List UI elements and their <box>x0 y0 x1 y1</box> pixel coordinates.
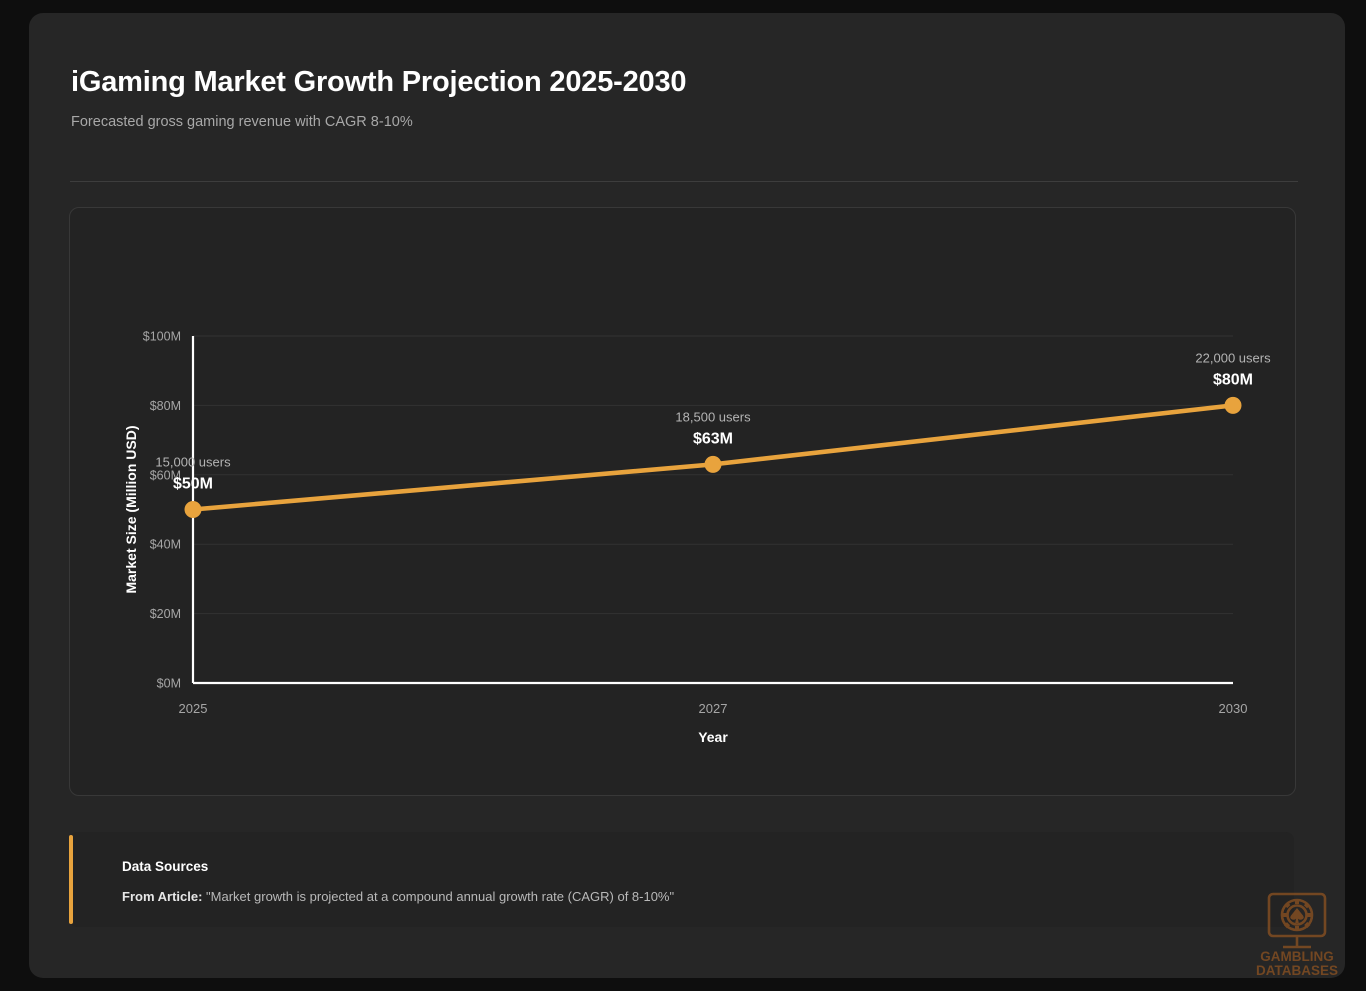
header-divider <box>70 181 1298 182</box>
data-point-users-label: 15,000 users <box>155 455 231 470</box>
monitor-stand <box>1283 936 1311 947</box>
data-sources-citation: From Article: "Market growth is projecte… <box>122 889 674 904</box>
y-axis-title: Market Size (Million USD) <box>123 425 139 593</box>
y-tick-label: $100M <box>143 330 181 344</box>
page-subtitle: Forecasted gross gaming revenue with CAG… <box>71 114 1297 130</box>
chart-card: $0M$20M$40M$60M$80M$100M 202520272030 15… <box>69 207 1296 796</box>
x-axis-title: Year <box>698 729 728 745</box>
data-sources-heading: Data Sources <box>122 859 208 874</box>
watermark-line2: DATABASES <box>1256 963 1338 978</box>
x-tick-label: 2027 <box>699 701 728 716</box>
data-point-users-label: 22,000 users <box>1195 350 1271 365</box>
y-tick-label: $80M <box>150 399 181 413</box>
page-root: iGaming Market Growth Projection 2025-20… <box>0 0 1366 991</box>
line-chart-svg: $0M$20M$40M$60M$80M$100M 202520272030 15… <box>70 208 1297 797</box>
data-point-value-label: $50M <box>173 476 213 493</box>
data-sources-citation-quote: "Market growth is projected at a compoun… <box>206 889 674 904</box>
data-point-value-label: $63M <box>693 430 733 447</box>
y-tick-label: $20M <box>150 607 181 621</box>
y-tick-label: $40M <box>150 538 181 552</box>
data-point-marker[interactable] <box>705 456 722 473</box>
chart-header: iGaming Market Growth Projection 2025-20… <box>71 66 1297 130</box>
y-tick-label: $0M <box>157 677 181 691</box>
x-tick-label: 2025 <box>179 701 208 716</box>
gridlines <box>193 336 1233 683</box>
data-sources-accent-bar <box>69 835 73 924</box>
x-tick-label: 2030 <box>1219 701 1248 716</box>
watermark-line1: GAMBLING <box>1260 949 1334 964</box>
data-point-marker[interactable] <box>185 501 202 518</box>
page-title: iGaming Market Growth Projection 2025-20… <box>71 66 1297 99</box>
data-point-marker[interactable] <box>1225 397 1242 414</box>
plot-area: $0M$20M$40M$60M$80M$100M 202520272030 15… <box>70 208 1297 797</box>
data-point-users-label: 18,500 users <box>675 409 751 424</box>
data-point-value-label: $80M <box>1213 371 1253 388</box>
data-sources-card <box>69 832 1294 927</box>
main-card: iGaming Market Growth Projection 2025-20… <box>29 13 1345 978</box>
x-axis-ticks: 202520272030 <box>179 701 1248 716</box>
y-axis-ticks: $0M$20M$40M$60M$80M$100M <box>143 330 181 691</box>
data-sources-citation-label: From Article: <box>122 889 202 904</box>
